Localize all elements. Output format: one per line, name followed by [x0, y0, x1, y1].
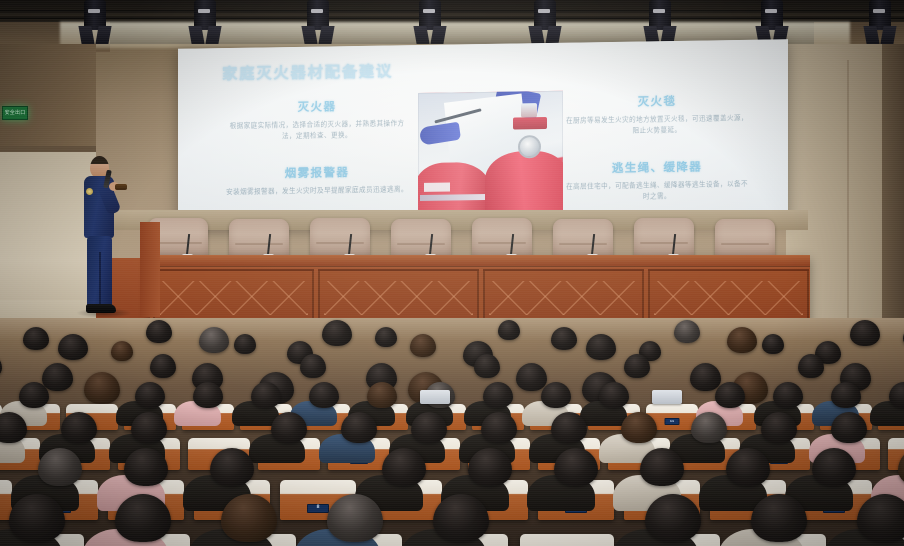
seat-number-plate: 11	[665, 418, 680, 425]
chair-crease	[235, 243, 283, 245]
audience-head	[624, 354, 650, 378]
projection-screen-surface: 家庭灭火器材配备建议 灭火器 根据家庭实际情况，选择合适的灭火器，并熟悉其操作方…	[178, 39, 788, 229]
audience-head	[762, 334, 784, 354]
audience-head	[645, 494, 701, 542]
spotlight-barndoor	[880, 26, 896, 44]
lectern	[140, 222, 160, 317]
audience-head	[111, 341, 133, 361]
projection-screen: 家庭灭火器材配备建议 灭火器 根据家庭实际情况，选择合适的灭火器，并熟悉其操作方…	[178, 39, 788, 229]
chair-crease	[316, 242, 364, 244]
microphone-stem	[348, 234, 352, 256]
microphone-stem	[186, 234, 190, 256]
audience-head	[341, 412, 377, 443]
audience-head	[761, 412, 797, 443]
spotlight-barndoor	[205, 26, 221, 44]
spotlight-lens-icon	[765, 9, 777, 13]
audience-head	[690, 363, 721, 391]
audience-head	[551, 327, 577, 350]
stage-spotlight	[78, 0, 112, 46]
audience-head	[367, 382, 397, 408]
audience-head	[115, 494, 171, 542]
audience-head	[150, 354, 176, 378]
spotlight-lens-icon	[423, 9, 435, 13]
audience-head	[551, 412, 587, 443]
photo-valve-handle	[521, 103, 537, 117]
podium-diamond-pattern	[159, 281, 308, 315]
audience-head	[42, 363, 73, 391]
audience-head	[468, 448, 512, 486]
section-heading: 灭火毯	[566, 92, 748, 111]
right-wall-seam	[847, 60, 849, 330]
spotlight-lens-icon	[311, 9, 323, 13]
audience-head	[19, 382, 49, 408]
audience-laptop	[652, 390, 682, 404]
podium-diamond-pattern	[654, 281, 803, 315]
stage-spotlight	[528, 0, 562, 46]
audience-head	[621, 412, 657, 443]
audience-area: 101316811101316811101316811101316811	[0, 318, 904, 546]
audience-head	[773, 382, 803, 408]
seat-number-plate: 8	[307, 504, 329, 513]
audience-head	[124, 448, 168, 486]
spotlight-barndoor	[318, 26, 334, 44]
audience-head	[599, 382, 629, 408]
slide-section-fire-blanket: 灭火毯 在厨房等易发生火灾的地方放置灭火毯，可迅速覆盖火源，阻止火势蔓延。	[566, 92, 748, 138]
audience-head	[146, 320, 172, 343]
audience-head	[674, 320, 700, 343]
stage-spotlight	[188, 0, 222, 46]
audience-head	[193, 382, 223, 408]
spotlight-barndoor	[545, 26, 561, 44]
slide-section-escape-rope: 逃生绳、缓降器 在高层住宅中，可配备逃生绳、缓降器等逃生设备，以备不时之需。	[566, 158, 748, 204]
presenter-shoes	[86, 304, 116, 313]
photo-extinguisher-label	[424, 183, 450, 192]
audience-head	[889, 382, 904, 408]
audience-head	[0, 354, 2, 378]
section-body: 根据家庭实际情况，选择合适的灭火器，并熟悉其操作方法，定期检查、更换。	[226, 118, 408, 143]
audience-head	[375, 327, 397, 347]
microphone-stem	[267, 234, 271, 256]
audience-head	[850, 320, 880, 346]
podium-diamond-pattern	[324, 281, 473, 315]
chair-crease	[478, 242, 526, 244]
section-body: 安装烟雾报警器，发生火灾时及早提醒家庭成员迅速逃离。	[226, 184, 408, 198]
audience-head	[38, 448, 82, 486]
microphone-stem	[672, 234, 676, 256]
microphone-stem	[510, 234, 514, 256]
photo-extinguisher-band	[420, 194, 486, 201]
section-heading: 灭火器	[226, 97, 408, 116]
audience-head	[640, 448, 684, 486]
microphone-stem	[429, 234, 433, 256]
podium-diamond-pattern	[489, 281, 638, 315]
microphone-stem	[591, 234, 595, 256]
left-wall-trim	[0, 146, 96, 152]
audience-head	[234, 334, 256, 354]
audience-head	[58, 334, 88, 360]
audience-head	[831, 382, 861, 408]
audience-head	[498, 320, 520, 340]
chair-crease	[721, 243, 769, 245]
audience-head	[410, 334, 436, 357]
section-body: 在高层住宅中，可配备逃生绳、缓降器等逃生设备，以备不时之需。	[566, 179, 748, 204]
audience-head	[691, 412, 727, 443]
spotlight-lens-icon	[538, 9, 550, 13]
exit-sign-label: 安全出口	[5, 111, 26, 116]
audience-head	[726, 448, 770, 486]
audience-head	[382, 448, 426, 486]
chair-crease	[559, 243, 607, 245]
audience-head	[300, 354, 326, 378]
chair-crease	[154, 242, 202, 244]
audience-head	[199, 327, 229, 353]
audience-head	[483, 382, 513, 408]
seat-number-label: 8	[316, 506, 319, 510]
audience-head	[327, 494, 383, 542]
chair-crease	[397, 243, 445, 245]
audience-head	[727, 327, 757, 353]
photo-extinguisher-right	[485, 151, 563, 218]
uniform-badge-icon	[86, 188, 93, 195]
audience-head	[23, 327, 49, 350]
audience-head	[751, 494, 807, 542]
audience-head	[554, 448, 598, 486]
audience-head	[481, 412, 517, 443]
exit-sign: 安全出口	[2, 106, 28, 120]
slide-title: 家庭灭火器材配备建议	[222, 59, 393, 84]
spotlight-barndoor	[95, 26, 111, 44]
slide-photo-fire-extinguisher	[418, 91, 563, 219]
audience-head	[131, 412, 167, 443]
spotlight-lens-icon	[198, 9, 210, 13]
presenter-remote-icon	[115, 184, 127, 190]
section-heading: 烟雾报警器	[226, 163, 408, 182]
presenter-firefighter	[76, 156, 134, 316]
audience-head	[812, 448, 856, 486]
audience-head	[474, 354, 500, 378]
audience-head	[831, 412, 867, 443]
audience-head	[433, 494, 489, 542]
podium-top-surface	[150, 255, 810, 267]
auditorium-seat[interactable]	[520, 534, 614, 546]
spotlight-lens-icon	[873, 9, 885, 13]
photo-valve-assembly	[513, 117, 547, 130]
audience-head	[61, 412, 97, 443]
auditorium-photo-scene: 安全出口 家庭灭火器材配备建议 灭火器 根据家庭实际情况，选择合适的灭火器，并熟…	[0, 0, 904, 546]
audience-head	[586, 334, 616, 360]
section-heading: 逃生绳、缓降器	[566, 158, 748, 177]
right-wall-column	[882, 44, 904, 336]
audience-head	[9, 494, 65, 542]
seat-number-label: 11	[670, 420, 674, 423]
audience-laptop	[420, 390, 450, 404]
spotlight-barndoor	[430, 26, 446, 44]
audience-head	[322, 320, 352, 346]
audience-head	[271, 412, 307, 443]
slide-section-smoke-alarm: 烟雾报警器 安装烟雾报警器，发生火灾时及早提醒家庭成员迅速逃离。	[226, 163, 408, 198]
spotlight-lens-icon	[88, 9, 100, 13]
spotlight-lens-icon	[653, 9, 665, 13]
audience-head	[210, 448, 254, 486]
audience-head	[135, 382, 165, 408]
stage-spotlight	[413, 0, 447, 46]
audience-head	[251, 382, 281, 408]
audience-head	[309, 382, 339, 408]
presenter-leg-seam	[99, 252, 101, 306]
audience-head	[516, 363, 547, 391]
stage-spotlight	[643, 0, 677, 46]
audience-head	[221, 494, 277, 542]
audience-head	[798, 354, 824, 378]
audience-head	[541, 382, 571, 408]
audience-head	[84, 372, 120, 404]
audience-head	[411, 412, 447, 443]
stage-spotlight	[301, 0, 335, 46]
chair-crease	[640, 242, 688, 244]
slide-section-fire-extinguisher: 灭火器 根据家庭实际情况，选择合适的灭火器，并熟悉其操作方法，定期检查、更换。	[226, 97, 408, 143]
section-body: 在厨房等易发生火灾的地方放置灭火毯，可迅速覆盖火源，阻止火势蔓延。	[566, 113, 748, 138]
stage-spotlight	[863, 0, 897, 46]
audience-head	[715, 382, 745, 408]
